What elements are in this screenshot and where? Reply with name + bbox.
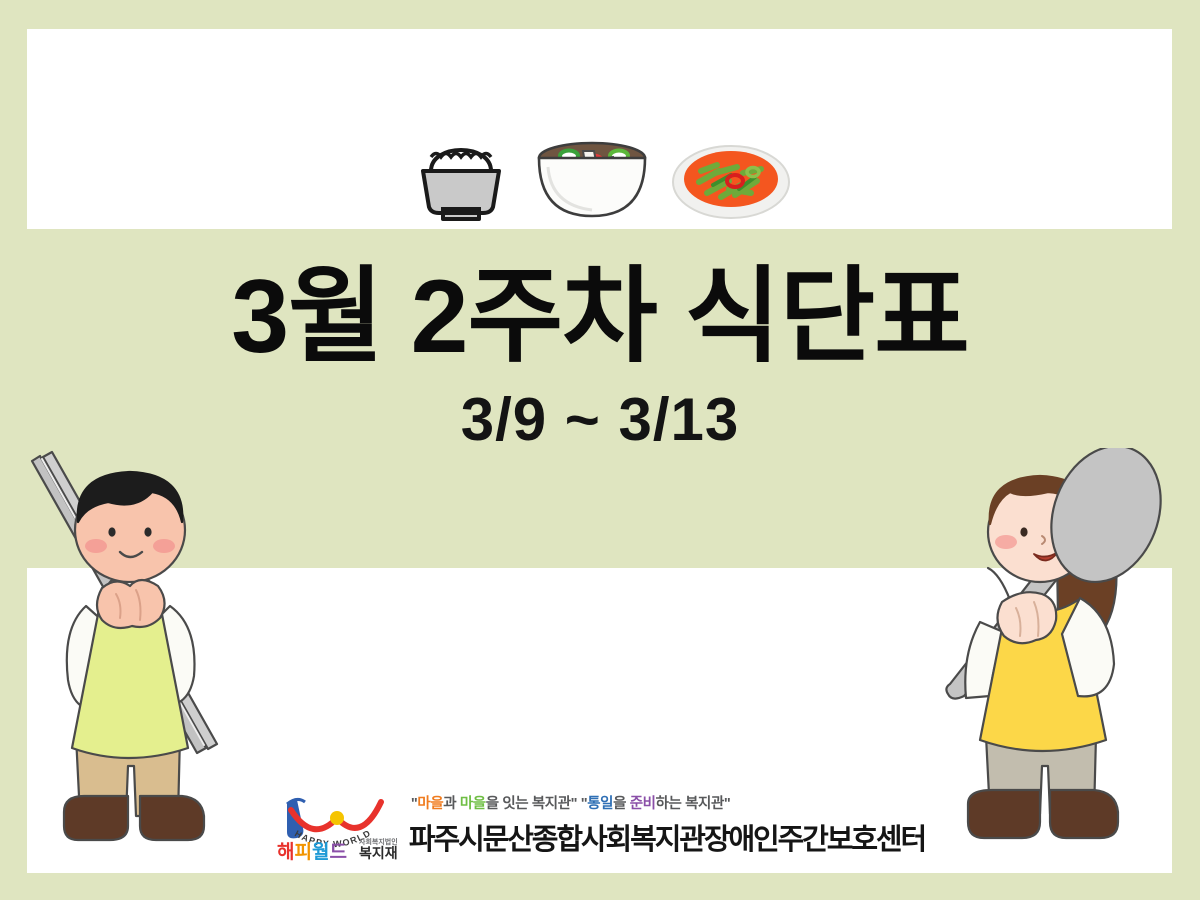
tagline-part: 을 잇는 복지관" " bbox=[486, 796, 587, 812]
logo-letter-2: 피 bbox=[294, 841, 311, 862]
logo-letter-1: 해 bbox=[277, 841, 294, 862]
logo-sub-text: 복지재단 bbox=[359, 845, 397, 861]
tagline-part: 마을 bbox=[417, 796, 443, 812]
date-range: 3/9 ~ 3/13 bbox=[0, 390, 1200, 450]
title-block: 3월 2주차 식단표 3/9 ~ 3/13 bbox=[0, 262, 1200, 450]
organization-name: 파주시문산종합사회복지관장애인주간보호센터 bbox=[409, 816, 925, 858]
tagline-part: 과 bbox=[443, 796, 460, 812]
logo-letter-4: 드 bbox=[329, 842, 346, 862]
happy-world-logo: HAPPY WORLD 해피월드 사회복지법인 복지재단 bbox=[275, 788, 397, 862]
meal-plan-poster: 3월 2주차 식단표 3/9 ~ 3/13 bbox=[0, 0, 1200, 900]
tagline-part: 을 bbox=[613, 796, 630, 812]
footer-tagline: "마을과 마을을 잇는 복지관" "통일을 준비하는 복지관" bbox=[411, 792, 925, 813]
tagline-part: 준비 bbox=[630, 796, 656, 812]
footer: HAPPY WORLD 해피월드 사회복지법인 복지재단 "마을과 마을을 잇는… bbox=[0, 784, 1200, 866]
logo-letter-3: 월 bbox=[312, 841, 329, 862]
tagline-part: 통일 bbox=[587, 796, 613, 812]
tagline-part: 마을 bbox=[460, 796, 486, 812]
footer-text-block: "마을과 마을을 잇는 복지관" "통일을 준비하는 복지관" 파주시문산종합사… bbox=[409, 792, 925, 858]
tagline-part: 하는 복지관" bbox=[656, 796, 731, 812]
food-icon-row bbox=[0, 118, 1200, 223]
rice-bowl-icon bbox=[409, 127, 513, 223]
kimchi-dish-icon bbox=[671, 137, 791, 223]
svg-text:해피월드: 해피월드 bbox=[277, 841, 347, 862]
soup-bowl-icon bbox=[531, 133, 653, 223]
page-title: 3월 2주차 식단표 bbox=[0, 262, 1200, 372]
